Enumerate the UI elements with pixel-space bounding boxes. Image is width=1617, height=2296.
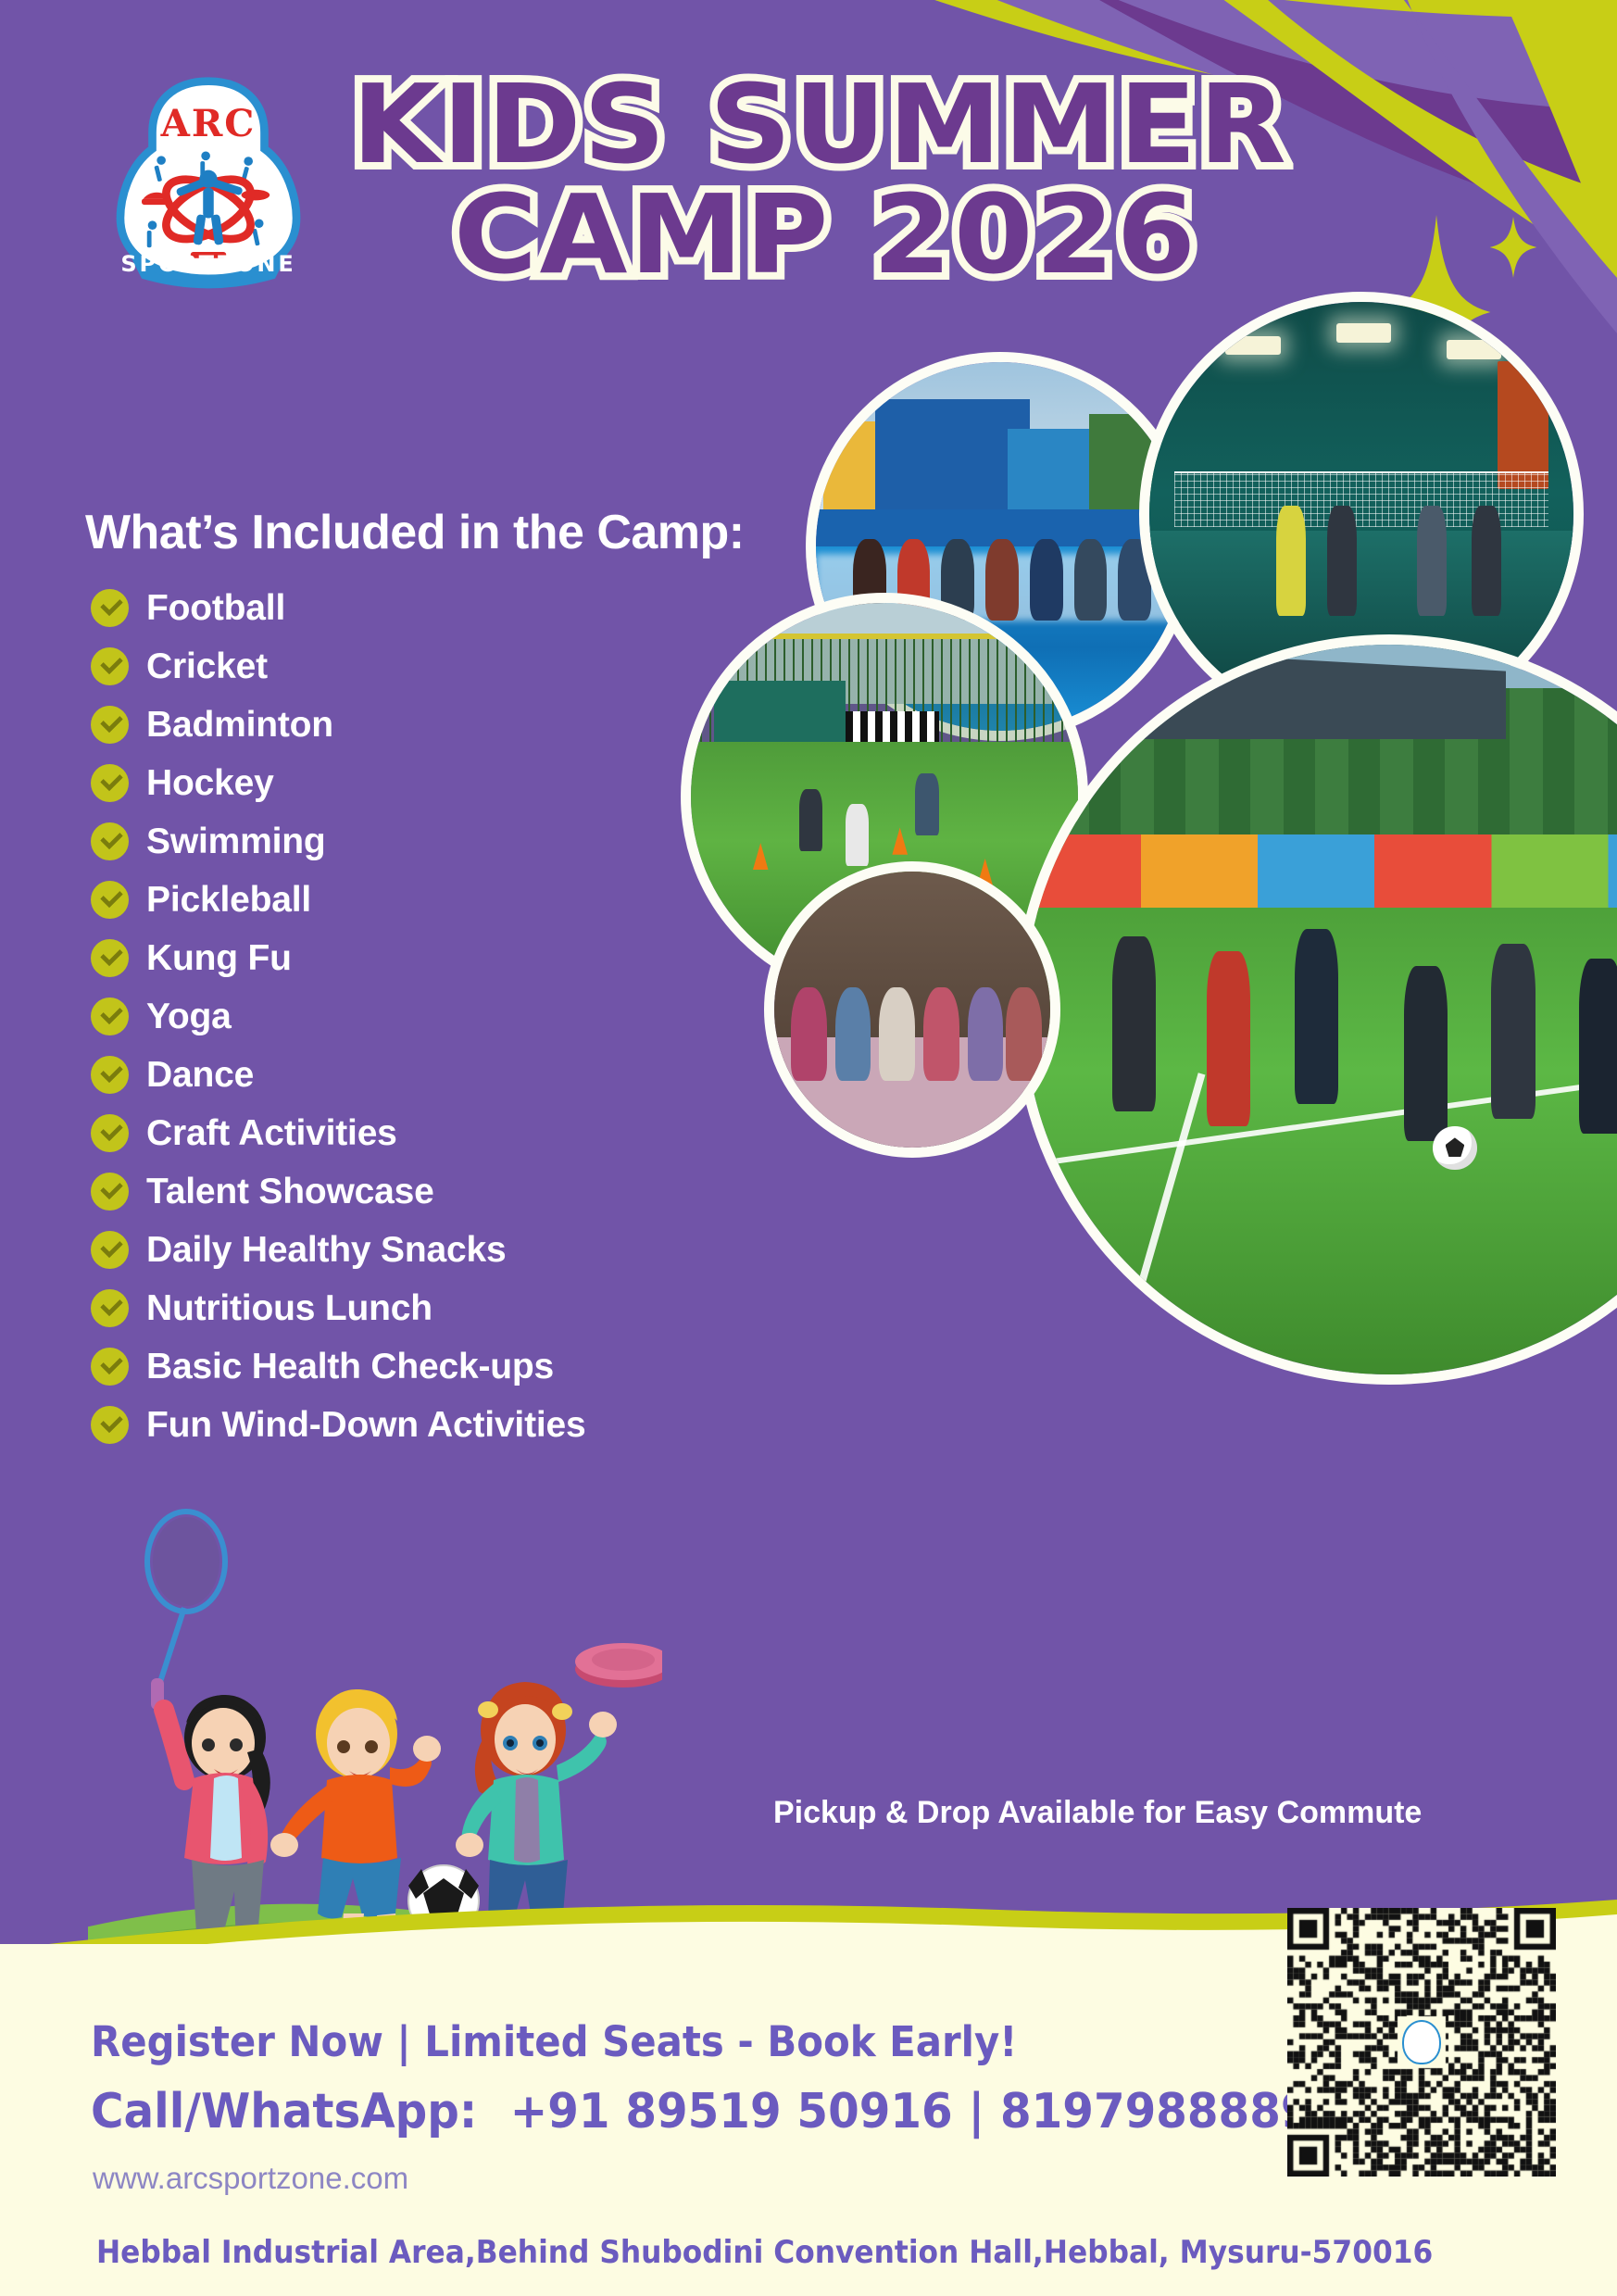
check-circle-icon bbox=[91, 1114, 129, 1152]
list-item-label: Basic Health Check-ups bbox=[146, 1347, 554, 1387]
check-circle-icon bbox=[91, 1056, 129, 1094]
list-item: Nutritious Lunch bbox=[91, 1279, 586, 1337]
arc-sportzone-logo: ARC bbox=[102, 74, 315, 296]
list-item: Craft Activities bbox=[91, 1104, 586, 1162]
check-circle-icon bbox=[91, 1173, 129, 1211]
logo-wordmark: SPORTZONE bbox=[120, 251, 295, 277]
check-circle-icon bbox=[91, 822, 129, 860]
list-item: Swimming bbox=[91, 812, 586, 871]
check-circle-icon bbox=[91, 706, 129, 744]
check-circle-icon bbox=[91, 589, 129, 627]
svg-text:ARC: ARC bbox=[160, 101, 257, 145]
list-item: Talent Showcase bbox=[91, 1162, 586, 1221]
page-title: What’s Included in the Camp: bbox=[85, 505, 745, 560]
included-list: FootballCricketBadmintonHockeySwimmingPi… bbox=[91, 579, 586, 1454]
list-item: Dance bbox=[91, 1046, 586, 1104]
football-turf-photo bbox=[1014, 634, 1617, 1385]
list-item-label: Hockey bbox=[146, 763, 274, 804]
list-item-label: Kung Fu bbox=[146, 938, 292, 979]
list-item-label: Dance bbox=[146, 1055, 254, 1096]
title-line-2: CAMP 2026 bbox=[454, 182, 1360, 287]
list-item-label: Pickleball bbox=[146, 880, 311, 921]
list-item: Basic Health Check-ups bbox=[91, 1337, 586, 1396]
address-line: Hebbal Industrial Area,Behind Shubodini … bbox=[96, 2234, 1433, 2271]
list-item: Football bbox=[91, 579, 586, 637]
list-item-label: Football bbox=[146, 588, 285, 629]
poster-root: ARC bbox=[0, 0, 1617, 2296]
check-circle-icon bbox=[91, 939, 129, 977]
list-item-label: Craft Activities bbox=[146, 1113, 397, 1154]
check-circle-icon bbox=[91, 1406, 129, 1444]
list-item-label: Fun Wind-Down Activities bbox=[146, 1405, 586, 1446]
qr-center-logo bbox=[1402, 2020, 1441, 2064]
check-circle-icon bbox=[91, 647, 129, 685]
list-item-label: Talent Showcase bbox=[146, 1172, 434, 1212]
indoor-activity-photo bbox=[764, 861, 1060, 1158]
poster-header: ARC bbox=[0, 0, 1617, 278]
phone-numbers: +91 89519 50916 | 8197988889 bbox=[510, 2084, 1312, 2139]
list-item: Badminton bbox=[91, 696, 586, 754]
call-line: Call/WhatsApp: +91 89519 50916 | 8197988… bbox=[91, 2084, 1312, 2139]
list-item-label: Cricket bbox=[146, 646, 268, 687]
register-line: Register Now | Limited Seats - Book Earl… bbox=[91, 2017, 1017, 2066]
check-circle-icon bbox=[91, 881, 129, 919]
website-link[interactable]: www.arcsportzone.com bbox=[93, 2161, 408, 2196]
list-item-label: Badminton bbox=[146, 705, 333, 746]
title-line-1: KIDS SUMMER bbox=[352, 72, 1363, 177]
list-item: Fun Wind-Down Activities bbox=[91, 1396, 586, 1454]
check-circle-icon bbox=[91, 764, 129, 802]
list-item: Cricket bbox=[91, 637, 586, 696]
check-circle-icon bbox=[91, 997, 129, 1035]
list-item-label: Swimming bbox=[146, 822, 325, 862]
qr-code[interactable] bbox=[1287, 1908, 1556, 2177]
list-item: Kung Fu bbox=[91, 929, 586, 987]
frisbee-icon bbox=[575, 1643, 662, 1687]
list-item: Yoga bbox=[91, 987, 586, 1046]
list-item-label: Daily Healthy Snacks bbox=[146, 1230, 506, 1271]
check-circle-icon bbox=[91, 1348, 129, 1386]
list-item: Pickleball bbox=[91, 871, 586, 929]
list-item-label: Nutritious Lunch bbox=[146, 1288, 432, 1329]
check-circle-icon bbox=[91, 1289, 129, 1327]
check-circle-icon bbox=[91, 1231, 129, 1269]
list-item-label: Yoga bbox=[146, 997, 232, 1037]
call-label: Call/WhatsApp: bbox=[91, 2084, 477, 2139]
list-item: Daily Healthy Snacks bbox=[91, 1221, 586, 1279]
pickup-drop-note: Pickup & Drop Available for Easy Commute bbox=[773, 1795, 1422, 1831]
photo-collage bbox=[648, 435, 1617, 1732]
list-item: Hockey bbox=[91, 754, 586, 812]
poster-title: KIDS SUMMER CAMP 2026 bbox=[352, 72, 1324, 288]
